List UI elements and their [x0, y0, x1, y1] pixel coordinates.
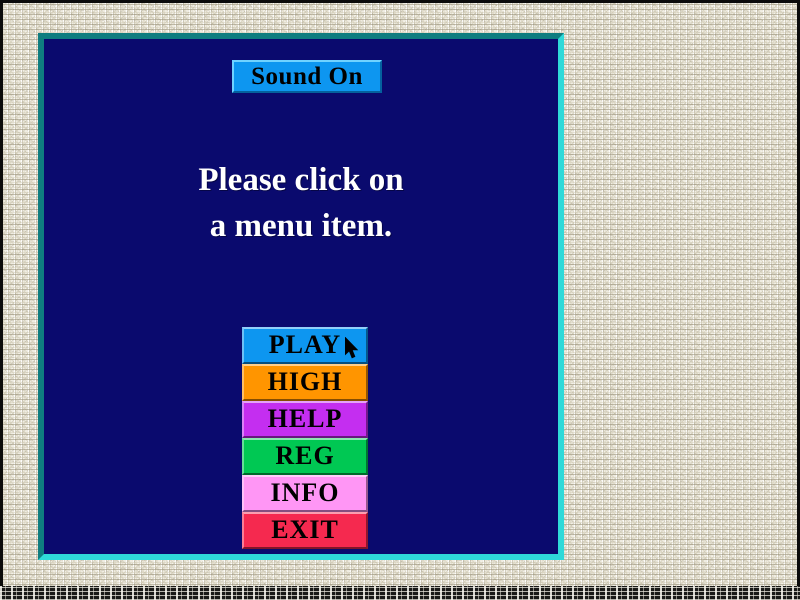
screen-edge-bottom: [0, 586, 800, 600]
menu-item-help[interactable]: HELP: [242, 401, 368, 438]
menu-item-play[interactable]: PLAY: [242, 327, 368, 364]
menu-item-reg[interactable]: REG: [242, 438, 368, 475]
screen-edge-left: [0, 0, 3, 600]
menu-item-high[interactable]: HIGH: [242, 364, 368, 401]
prompt-line-1: Please click on: [44, 157, 558, 203]
game-window-inner: Sound On Please click on a menu item. PL…: [44, 39, 558, 554]
screen-edge-top: [0, 0, 800, 3]
sound-toggle-button[interactable]: Sound On: [232, 60, 382, 93]
prompt-message: Please click on a menu item.: [44, 157, 558, 249]
menu-item-info[interactable]: INFO: [242, 475, 368, 512]
prompt-line-2: a menu item.: [44, 203, 558, 249]
menu-item-exit[interactable]: EXIT: [242, 512, 368, 549]
desktop-background: Sound On Please click on a menu item. PL…: [0, 0, 800, 600]
main-menu: PLAY HIGH HELP REG INFO EXIT: [242, 327, 368, 549]
game-window: Sound On Please click on a menu item. PL…: [38, 33, 564, 560]
